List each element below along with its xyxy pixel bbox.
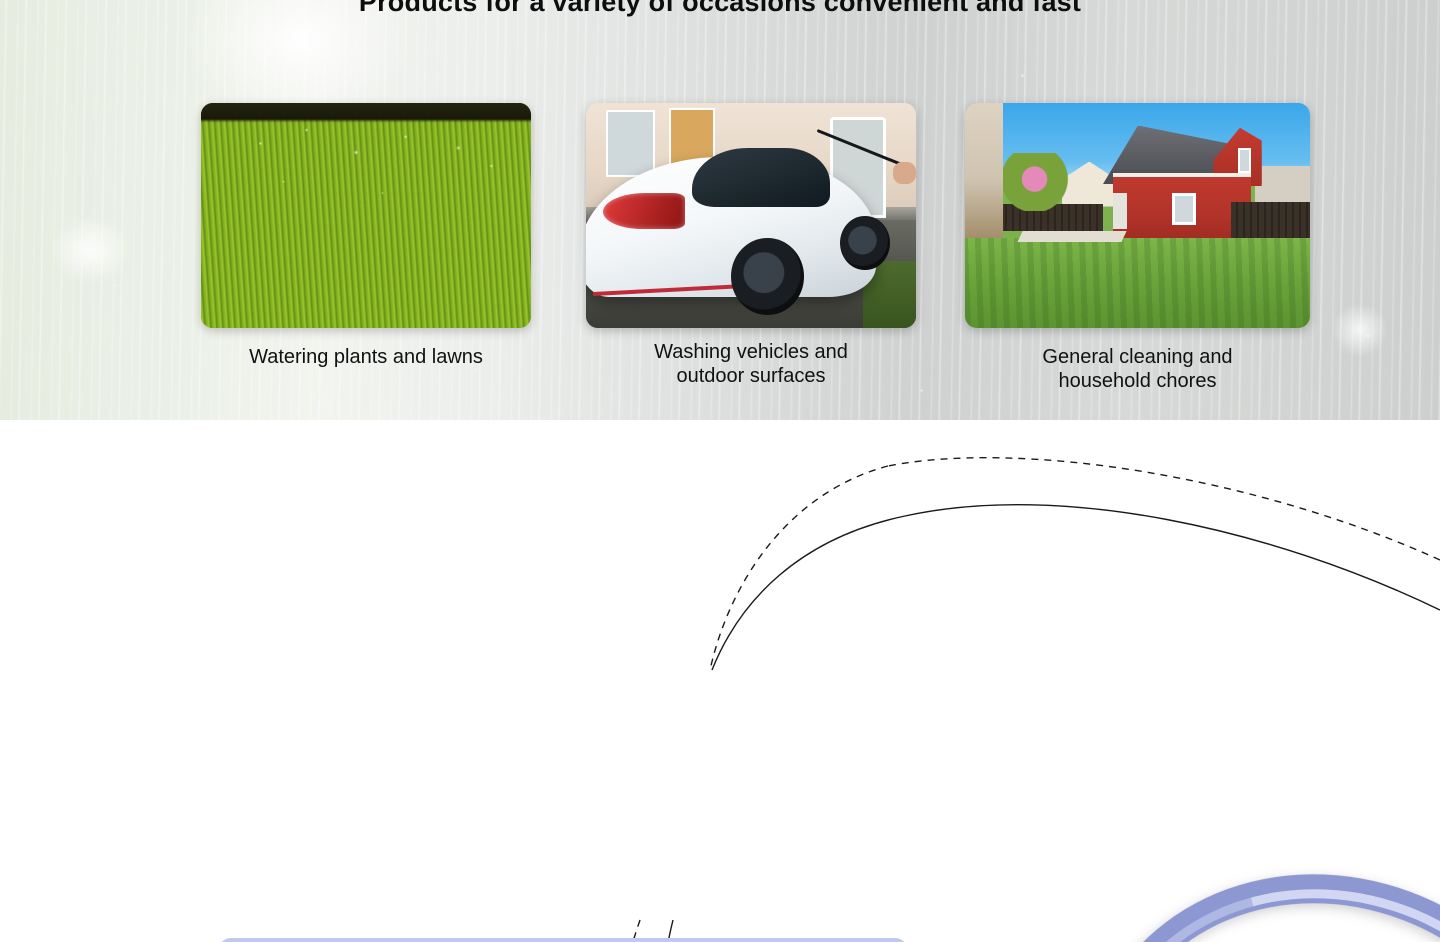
person-hand <box>893 162 916 185</box>
dashed-curve-upper-tail <box>710 466 888 670</box>
neighbor-house-right <box>1255 166 1310 207</box>
dashed-curve-upper <box>888 458 1440 560</box>
car-front-wheel <box>840 216 890 270</box>
backyard-window <box>1172 193 1196 225</box>
wood-fence-right <box>1231 202 1310 240</box>
house-window-left <box>606 110 656 178</box>
neighbor-house-left <box>1062 162 1117 207</box>
scenario-card-cleaning[interactable]: General cleaning andhousehold chores <box>965 103 1310 394</box>
scenario-caption-watering: Watering plants and lawns <box>201 345 531 369</box>
product-landing-page: Products for a variety of occasions conv… <box>0 0 1440 942</box>
concrete-walkway <box>1018 231 1127 242</box>
flowering-tree <box>1000 153 1069 212</box>
backyard-house-photo <box>965 103 1310 328</box>
scenario-caption-washing: Washing vehicles andoutdoor surfaces <box>586 340 916 389</box>
grass-lawn-photo <box>201 103 531 328</box>
scenario-card-washing[interactable]: Washing vehicles andoutdoor surfaces <box>586 103 916 389</box>
scenario-image-cleaning <box>965 103 1310 328</box>
scenario-image-watering <box>201 103 531 328</box>
product-hose-photo <box>745 850 1440 942</box>
scenario-caption-cleaning: General cleaning andhousehold chores <box>965 345 1310 394</box>
car-washing-photo <box>586 103 916 328</box>
car-rear-wheel <box>731 238 804 315</box>
scenario-card-watering[interactable]: Watering plants and lawns <box>201 103 531 369</box>
banner-title: Products for a variety of occasions conv… <box>0 0 1440 18</box>
solid-curve-upper <box>905 505 1440 610</box>
backyard-lawn <box>965 238 1310 328</box>
car-taillight <box>603 193 686 229</box>
porch-structure <box>965 103 1003 243</box>
feature-callout-performance[interactable]: Stable performance, long life, non-toxic… <box>218 938 908 942</box>
car-window <box>692 148 831 207</box>
scenario-card-list: Watering plants and lawns <box>0 103 1440 403</box>
product-features-section: Stable performance, long life, non-toxic… <box>0 420 1440 942</box>
scenario-image-washing <box>586 103 916 328</box>
backyard-door <box>1113 193 1127 229</box>
usage-scenarios-banner: Products for a variety of occasions conv… <box>0 0 1440 420</box>
solid-curve-upper-tail <box>712 516 905 670</box>
backyard-upper-window <box>1238 148 1252 173</box>
